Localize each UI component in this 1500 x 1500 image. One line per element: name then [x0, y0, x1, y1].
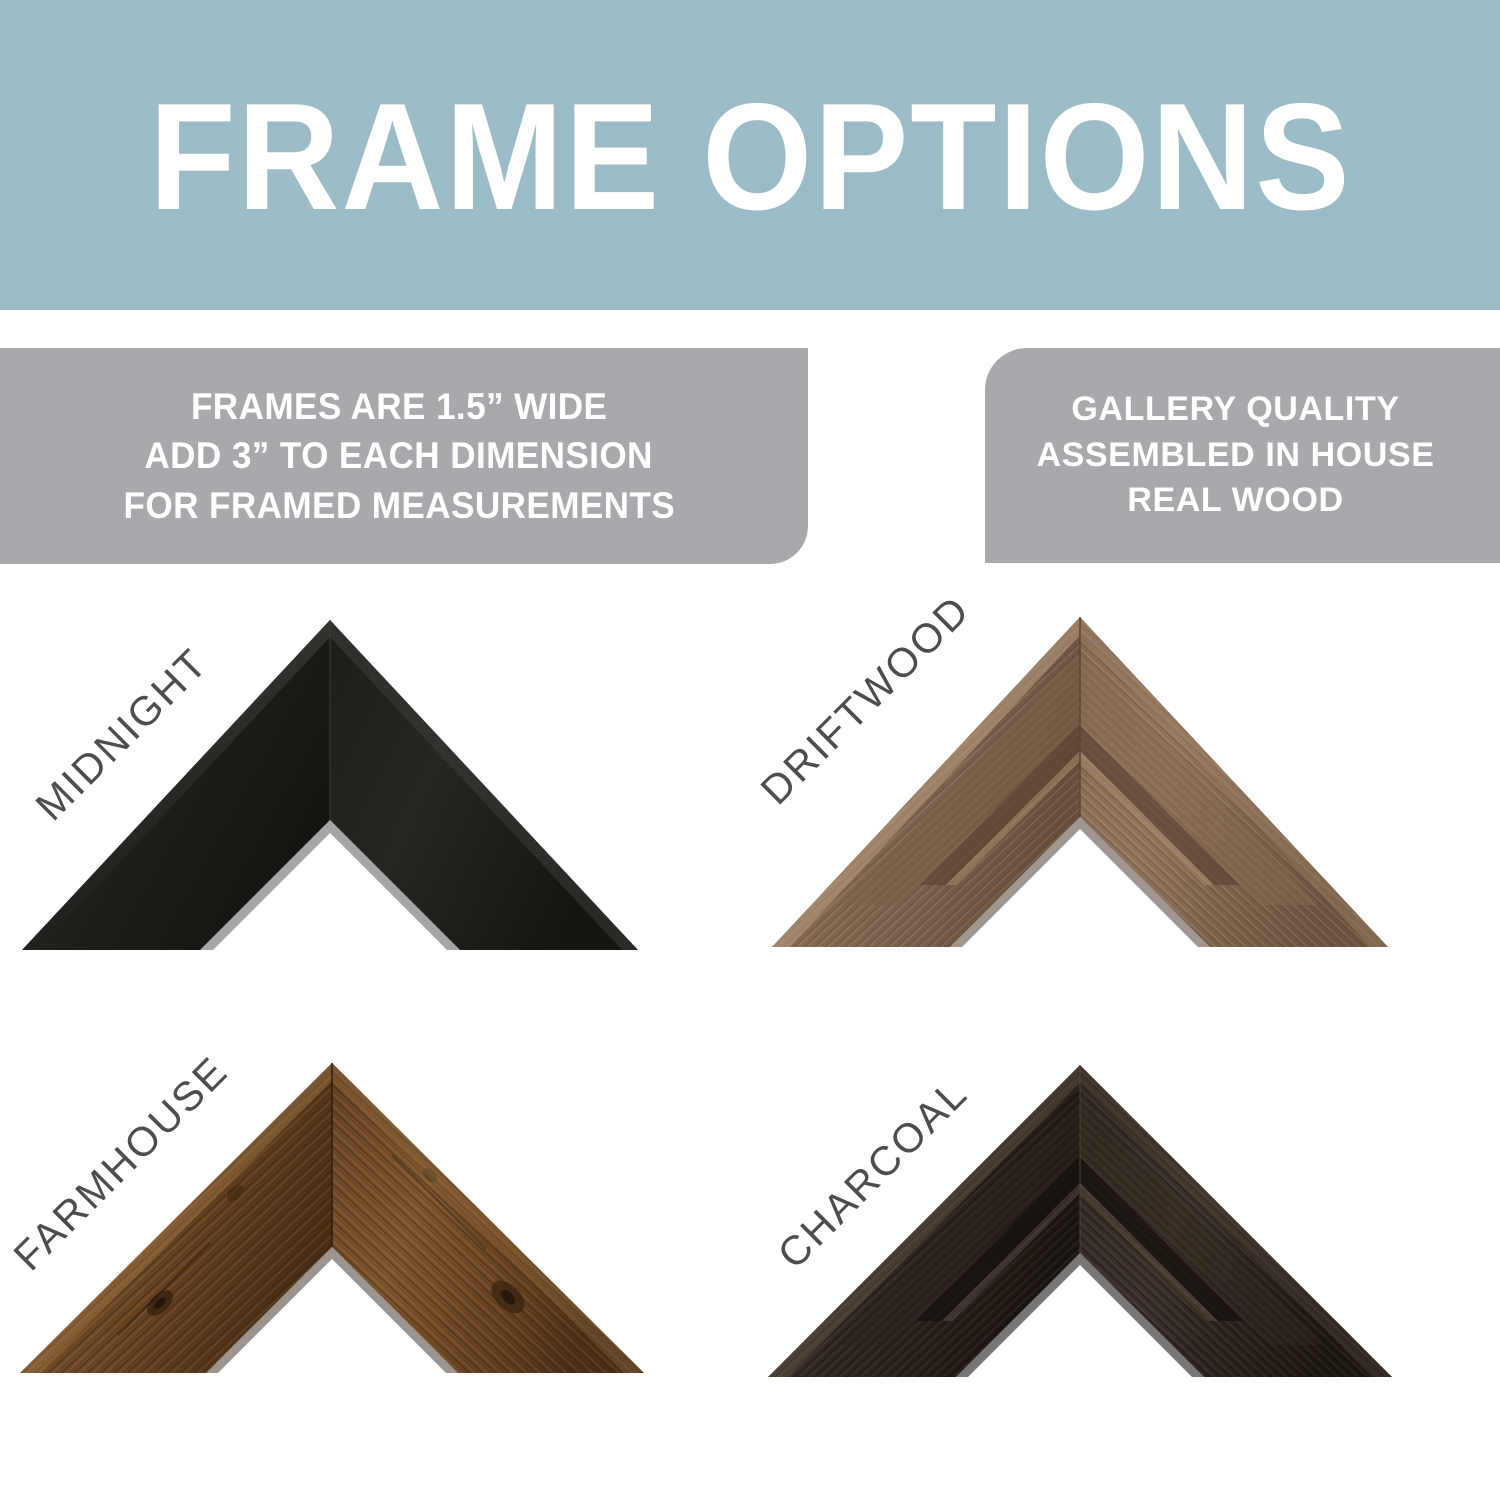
frame-option-driftwood[interactable]: DRIFTWOOD: [750, 575, 1500, 1035]
quality-line-1: GALLERY QUALITY: [1071, 387, 1399, 433]
driftwood-frame-corner-image: [750, 575, 1500, 1035]
frame-option-midnight[interactable]: MIDNIGHT: [0, 575, 750, 1035]
measurements-line-3: FOR FRAMED MEASUREMENTS: [123, 481, 675, 530]
farmhouse-frame-corner-image: [0, 1035, 750, 1495]
frame-option-farmhouse[interactable]: FARMHOUSE: [0, 1035, 750, 1495]
measurements-line-2: ADD 3” TO EACH DIMENSION: [145, 431, 653, 480]
header-banner: FRAME OPTIONS: [0, 0, 1500, 310]
frame-options-grid: MIDNIGHT: [0, 575, 1500, 1500]
frame-option-charcoal[interactable]: CHARCOAL: [750, 1035, 1500, 1495]
info-box-quality: GALLERY QUALITY ASSEMBLED IN HOUSE REAL …: [985, 348, 1500, 563]
midnight-frame-corner-image: [0, 575, 750, 1035]
page-title: FRAME OPTIONS: [149, 81, 1351, 233]
charcoal-frame-corner-image: [750, 1035, 1500, 1495]
measurements-line-1: FRAMES ARE 1.5” WIDE: [191, 382, 607, 431]
quality-line-3: REAL WOOD: [1127, 478, 1343, 524]
quality-line-2: ASSEMBLED IN HOUSE: [1036, 433, 1434, 479]
info-box-measurements: FRAMES ARE 1.5” WIDE ADD 3” TO EACH DIME…: [0, 348, 808, 564]
